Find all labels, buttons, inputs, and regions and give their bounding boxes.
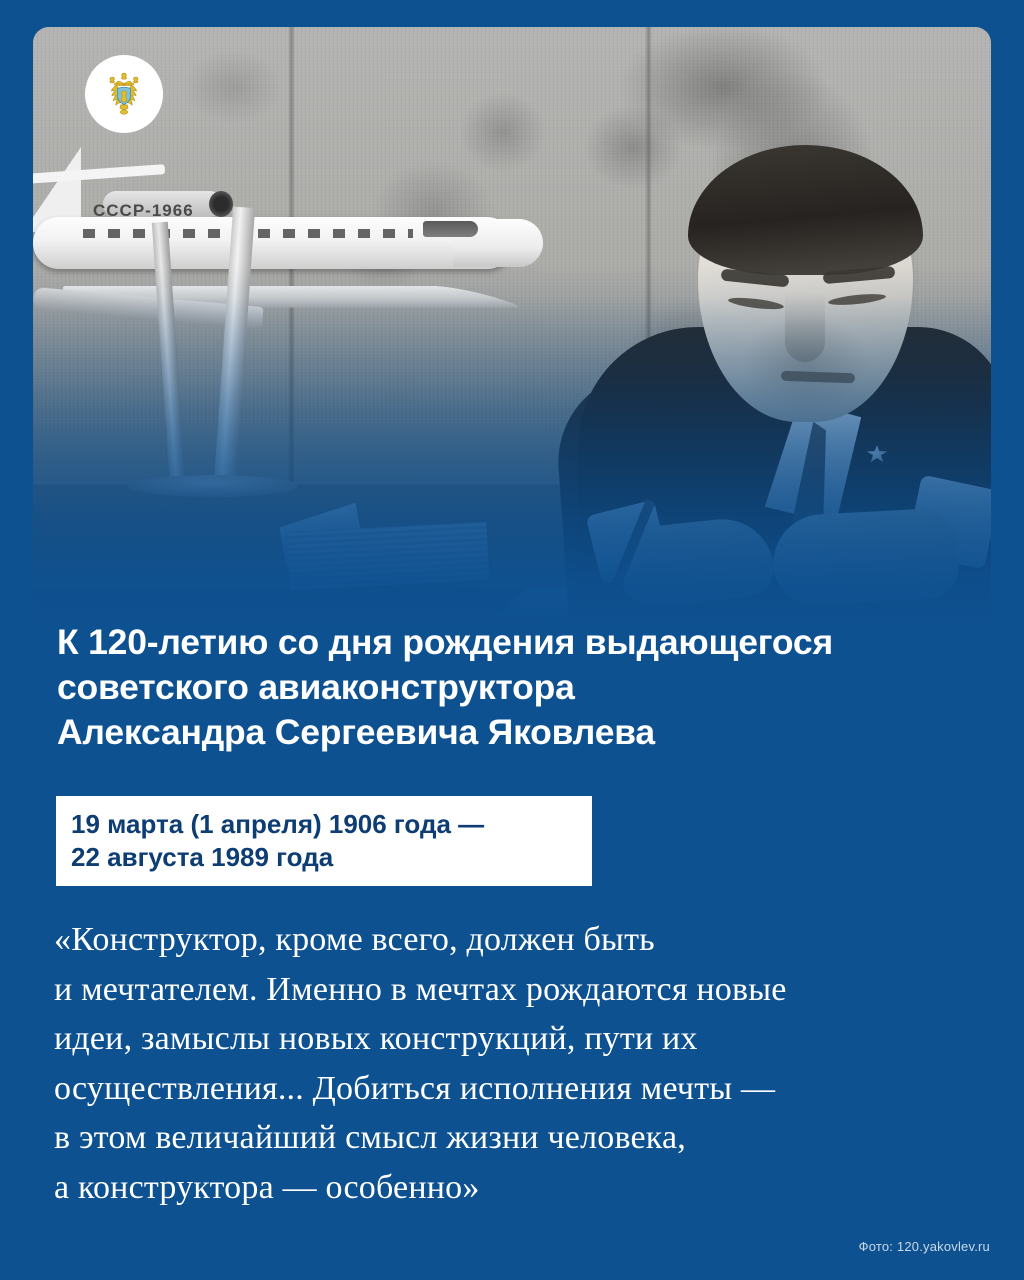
life-dates-line-1: 19 марта (1 апреля) 1906 года — <box>71 808 592 841</box>
title-line-1: К 120-летию со дня рождения выдающегося <box>57 620 977 665</box>
double-headed-eagle-icon <box>95 65 153 123</box>
poster: CCCP-1966 <box>0 0 1024 1280</box>
life-dates-line-2: 22 августа 1989 года <box>71 841 592 874</box>
life-dates-box: 19 марта (1 апреля) 1906 года — 22 авгус… <box>56 796 592 886</box>
photo-credit: Фото: 120.yakovlev.ru <box>859 1239 990 1254</box>
quote-line-3: идеи, замыслы новых конструкций, пути их <box>54 1014 984 1064</box>
photo-fade-to-background <box>33 27 991 627</box>
russian-federation-emblem-badge <box>85 55 163 133</box>
page-title: К 120-летию со дня рождения выдающегося … <box>57 620 977 755</box>
quote-line-6: а конструктора — особенно» <box>54 1163 984 1213</box>
quote-line-4: осуществления... Добиться исполнения меч… <box>54 1064 984 1114</box>
quote-line-5: в этом величайший смысл жизни человека, <box>54 1113 984 1163</box>
portrait-photo: CCCP-1966 <box>33 27 991 627</box>
quote-line-2: и мечтателем. Именно в мечтах рождаются … <box>54 965 984 1015</box>
title-line-2: советского авиаконструктора <box>57 665 977 710</box>
title-line-3: Александра Сергеевича Яковлева <box>57 710 977 755</box>
quotation: «Конструктор, кроме всего, должен быть и… <box>54 915 984 1212</box>
quote-line-1: «Конструктор, кроме всего, должен быть <box>54 915 984 965</box>
